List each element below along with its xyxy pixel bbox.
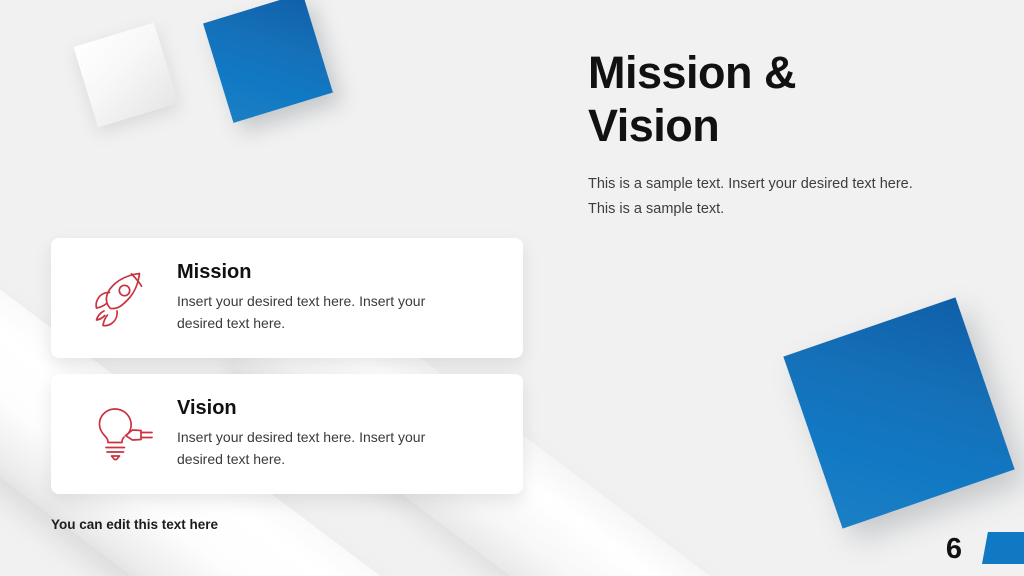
intro-paragraph: This is a sample text. Insert your desir… [588,172,938,222]
footer-note[interactable]: You can edit this text here [51,517,218,532]
mission-card[interactable]: Mission Insert your desired text here. I… [51,238,523,358]
headline-block: Mission & Vision [588,46,978,152]
blue-square-shape-large [783,297,1014,528]
blue-corner-shape [982,532,1024,564]
mission-card-title: Mission [177,261,452,284]
mission-card-body: Mission Insert your desired text here. I… [169,261,474,334]
page-title: Mission & Vision [588,46,978,152]
slide-mission-vision: Mission & Vision This is a sample text. … [0,0,1024,576]
diagonal-ribbon-shape [0,165,1024,576]
vision-card-title: Vision [177,397,452,420]
mission-card-text: Insert your desired text here. Insert yo… [177,291,452,334]
white-square-shape [74,23,179,128]
blue-square-shape-small [203,0,333,123]
rocket-icon [73,261,169,335]
page-title-line-2: Vision [588,100,719,151]
vision-card[interactable]: Vision Insert your desired text here. In… [51,374,523,494]
vision-card-text: Insert your desired text here. Insert yo… [177,427,452,470]
page-title-line-1: Mission & [588,47,796,98]
page-number: 6 [946,535,962,564]
vision-card-body: Vision Insert your desired text here. In… [169,397,474,470]
lightbulb-pencil-icon [73,397,169,471]
